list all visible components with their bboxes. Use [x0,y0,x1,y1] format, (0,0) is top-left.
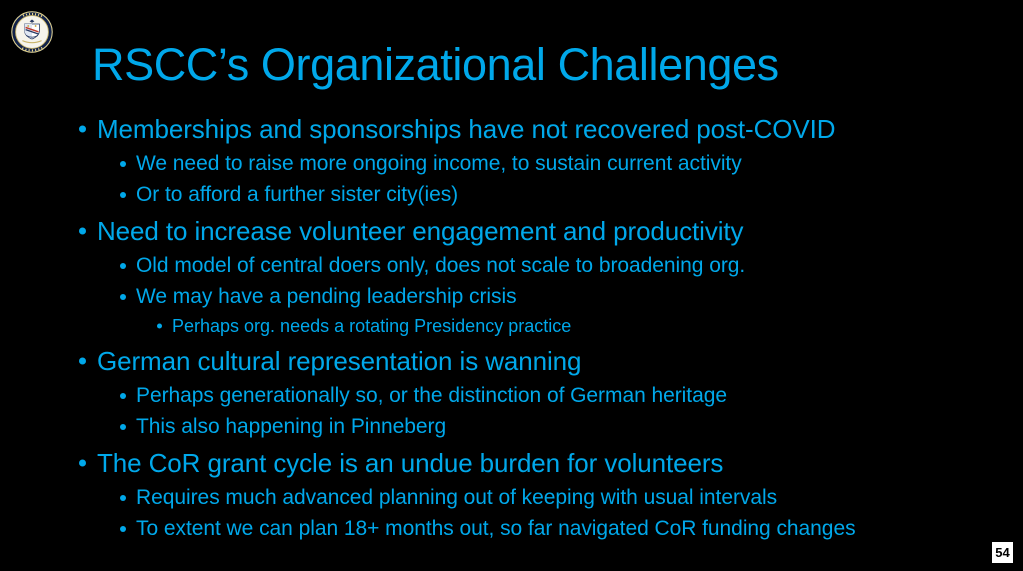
outline-item-text: Perhaps org. needs a rotating Presidency… [172,312,571,340]
outline-item-level2: This also happening in Pinneberg [0,411,1023,442]
outline-item-text: Or to afford a further sister city(ies) [136,179,458,210]
slide-number-badge: 54 [992,542,1013,563]
bullet-point-icon [79,358,86,365]
outline-group: German cultural representation is wannin… [0,344,1023,442]
outline-item-level2: Old model of central doers only, does no… [0,250,1023,281]
slide-title: RSCC’s Organizational Challenges [92,38,972,92]
outline-item-text: We may have a pending leadership crisis [136,281,517,312]
outline-item-level1: Memberships and sponsorships have not re… [0,112,1023,146]
outline-item-text: We need to raise more ongoing income, to… [136,148,742,179]
outline-item-text: Requires much advanced planning out of k… [136,482,777,513]
bullet-point-icon [79,228,86,235]
bullet-point-icon [120,495,126,501]
outline-item-level1: The CoR grant cycle is an undue burden f… [0,446,1023,480]
outline-item-level2: We need to raise more ongoing income, to… [0,148,1023,179]
outline-group: The CoR grant cycle is an undue burden f… [0,446,1023,544]
bullet-point-icon [79,460,86,467]
outline-item-text: To extent we can plan 18+ months out, so… [136,513,856,544]
outline-group: Memberships and sponsorships have not re… [0,112,1023,210]
outline-item-level2: Perhaps generationally so, or the distin… [0,380,1023,411]
outline-group: Need to increase volunteer engagement an… [0,214,1023,340]
outline-item-level2: To extent we can plan 18+ months out, so… [0,513,1023,544]
slide-body-outline: Memberships and sponsorships have not re… [0,112,1023,548]
outline-item-text: Need to increase volunteer engagement an… [97,214,743,248]
outline-item-level2: Requires much advanced planning out of k… [0,482,1023,513]
outline-item-text: The CoR grant cycle is an undue burden f… [97,446,723,480]
outline-item-text: Old model of central doers only, does no… [136,250,745,281]
bullet-point-icon [120,263,126,269]
bullet-point-icon [120,526,126,532]
outline-item-level1: German cultural representation is wannin… [0,344,1023,378]
outline-item-level3: Perhaps org. needs a rotating Presidency… [0,312,1023,340]
bullet-point-icon [120,393,126,399]
outline-item-level1: Need to increase volunteer engagement an… [0,214,1023,248]
outline-item-level2: We may have a pending leadership crisis [0,281,1023,312]
bullet-point-icon [120,424,126,430]
bullet-point-icon [120,161,126,167]
outline-item-level2: Or to afford a further sister city(ies) [0,179,1023,210]
bullet-point-icon [157,324,162,329]
bullet-point-icon [79,126,86,133]
bullet-point-icon [120,192,126,198]
presentation-slide: RSCC’s Organizational Challenges Members… [0,0,1023,571]
organization-seal-icon [10,10,54,54]
outline-item-text: Perhaps generationally so, or the distin… [136,380,727,411]
bullet-point-icon [120,294,126,300]
outline-item-text: German cultural representation is wannin… [97,344,581,378]
outline-item-text: This also happening in Pinneberg [136,411,446,442]
outline-item-text: Memberships and sponsorships have not re… [97,112,835,146]
